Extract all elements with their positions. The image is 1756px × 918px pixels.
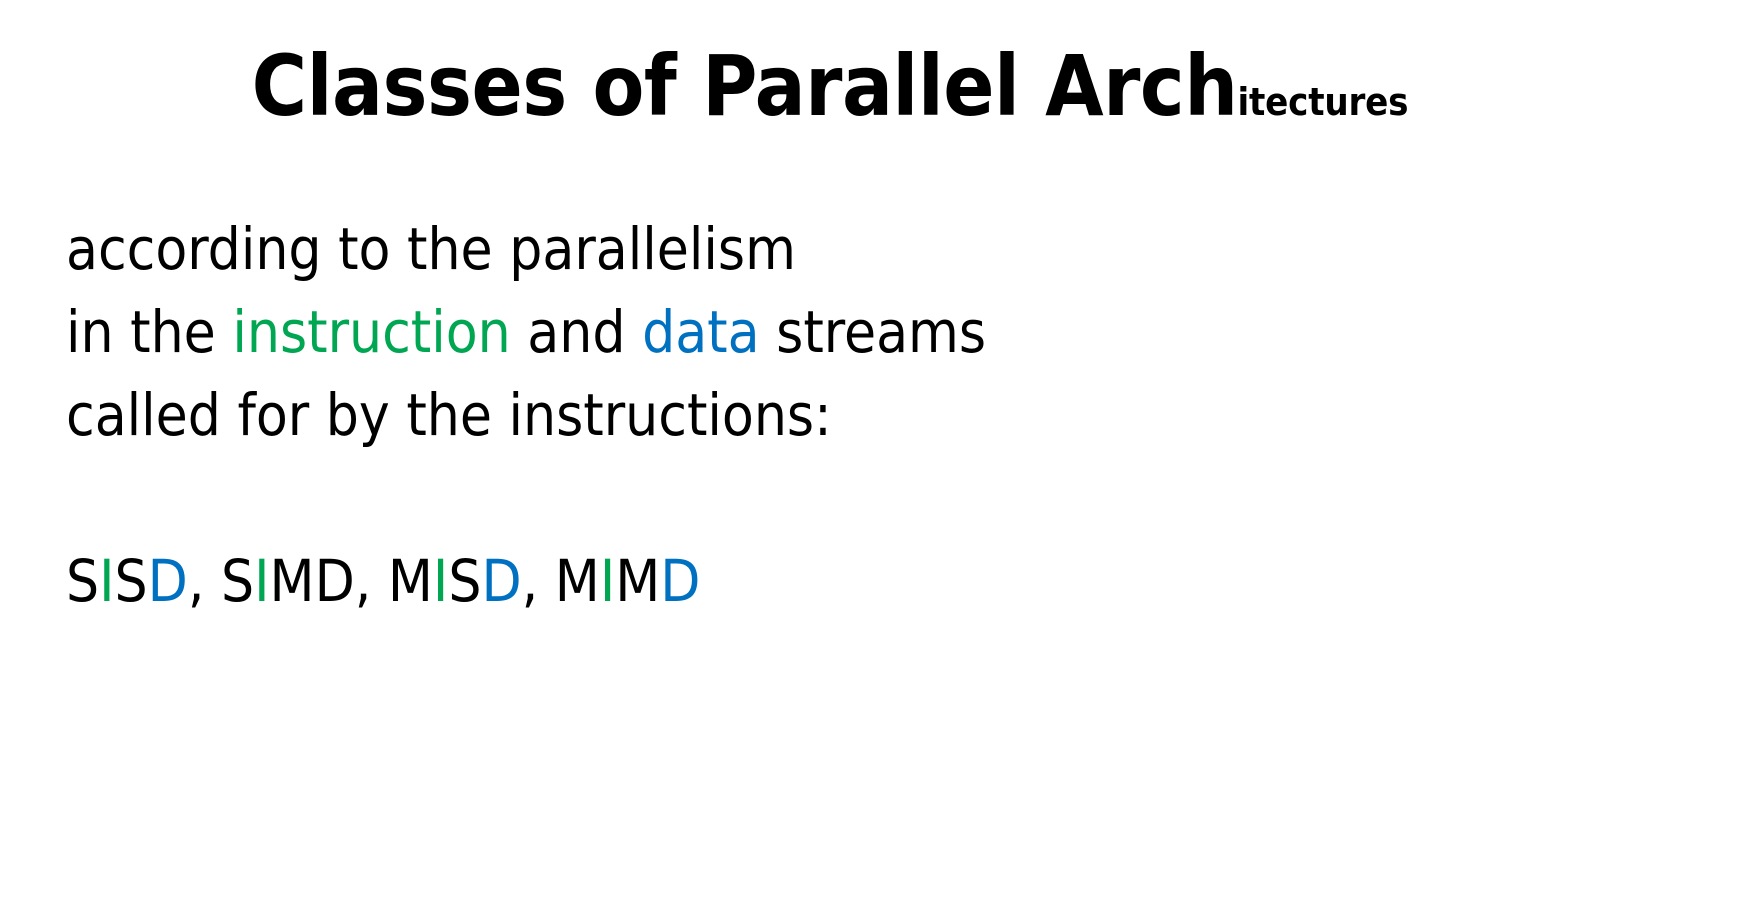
body-line-2: in the instruction and data streams	[66, 291, 1666, 374]
acronym-separator-3: ,	[522, 547, 555, 615]
acronym-simd-d: D	[315, 547, 355, 615]
body-line-1: according to the parallelism	[66, 208, 1666, 291]
acronym-separator-1: ,	[188, 547, 221, 615]
body-line-3: called for by the instructions:	[66, 374, 1666, 457]
slide-body: according to the parallelism in the inst…	[66, 208, 1666, 623]
acronym-sisd-d: D	[148, 547, 188, 615]
acronym-sisd-s2: S	[115, 547, 148, 615]
keyword-data: data	[642, 298, 760, 366]
body-line-2-prefix: in the	[66, 298, 232, 366]
body-line-2-suffix: streams	[760, 298, 986, 366]
acronym-misd-d: D	[481, 547, 521, 615]
acronym-simd-s: S	[221, 547, 254, 615]
acronym-mimd-m2: M	[615, 547, 660, 615]
acronym-list: SISD, SIMD, MISD, MIMD	[66, 540, 1666, 623]
slide-title: Classes of Parallel Architectures	[0, 44, 1660, 128]
acronym-mimd-i: I	[600, 547, 615, 615]
body-blank-line	[66, 457, 1666, 540]
title-main-text: Classes of Parallel Arch	[252, 37, 1238, 135]
acronym-separator-2: ,	[355, 547, 388, 615]
acronym-misd-s: S	[448, 547, 481, 615]
acronym-simd-i: I	[254, 547, 269, 615]
acronym-mimd-m1: M	[555, 547, 600, 615]
acronym-sisd-s1: S	[66, 547, 99, 615]
body-line-2-conjunction: and	[511, 298, 642, 366]
keyword-instruction: instruction	[232, 298, 510, 366]
acronym-sisd-i: I	[99, 547, 114, 615]
acronym-mimd-d: D	[660, 547, 700, 615]
acronym-simd-m: M	[270, 547, 315, 615]
acronym-misd-i: I	[433, 547, 448, 615]
title-tail-text: itectures	[1238, 80, 1409, 124]
acronym-misd-m: M	[388, 547, 433, 615]
slide-canvas: Classes of Parallel Architectures accord…	[0, 0, 1756, 918]
